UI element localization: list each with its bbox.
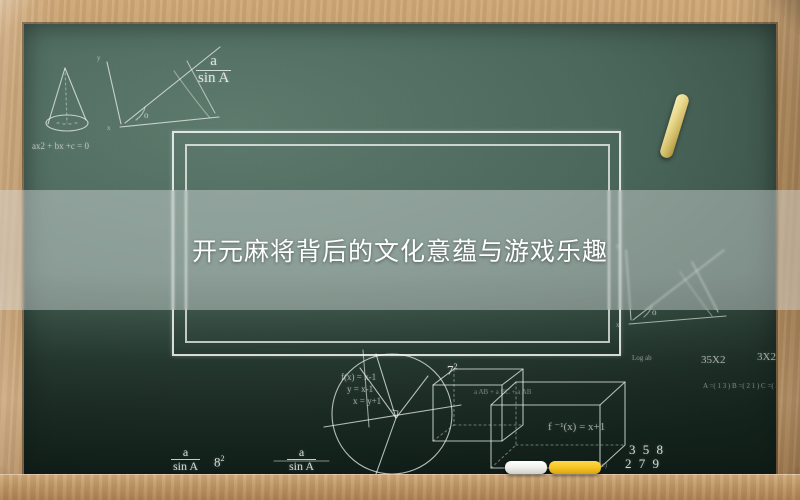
chalk-quadratic-equation: ax2 + bx +c = 0 [32,141,89,151]
chalk-yellow[interactable] [549,461,601,474]
chalk-white[interactable] [505,461,547,474]
exponent: 2 [221,454,225,463]
chalk-law-of-sines-2: a sin A [171,446,200,472]
fraction-denominator: sin A [287,460,316,473]
chalk-law-of-sines-1: a sin A [196,54,231,87]
fraction-numerator: a [196,54,231,71]
chalk-long-division-row2: 2 7 9 [625,456,661,472]
fraction-numerator: a [171,446,200,460]
chalk-tray [0,474,800,500]
exponent: 2 [454,362,458,371]
chalk-law-of-sines-3: a sin A [287,446,316,472]
chalk-function-y: y = x-1 [347,384,373,394]
chalk-abc-sum: a AB + a BC + a AB [474,388,531,396]
chalk-function-x: x = y+1 [353,396,381,406]
fraction-denominator: sin A [171,460,200,473]
chalk-inverse-function: f ⁻¹(x) = x+1 [548,420,605,433]
chalk-axis-label-x1: x [107,124,111,132]
chalk-log-ab: Log ab [632,354,652,362]
chalk-matrix-3x2: 3X2 [757,351,776,363]
chalk-power-seven: 72 [447,362,458,378]
circle-diagram [324,350,461,474]
fraction-numerator: a [287,446,316,460]
fraction-denominator: sin A [196,71,231,87]
page-title: 开元麻将背后的文化意蕴与游戏乐趣 [0,190,800,310]
chalk-matrix-definitions: A =( 1 3 ) B =( 2 1 ) C =( 3 2 ) [703,382,776,390]
chalk-function-fx: f(x) = x-1 [341,372,376,382]
chalk-power-eight: 82 [214,454,225,470]
chalk-axis-label-y1: y [97,54,101,62]
chalk-matrix-35x2: 35X2 [701,354,725,366]
blackboard-banner: a sin A ax2 + bx +c = 0 y x o y x o f(x)… [0,0,800,500]
chalk-angle-label-1: o [144,110,149,120]
cone-diagram [46,68,88,131]
